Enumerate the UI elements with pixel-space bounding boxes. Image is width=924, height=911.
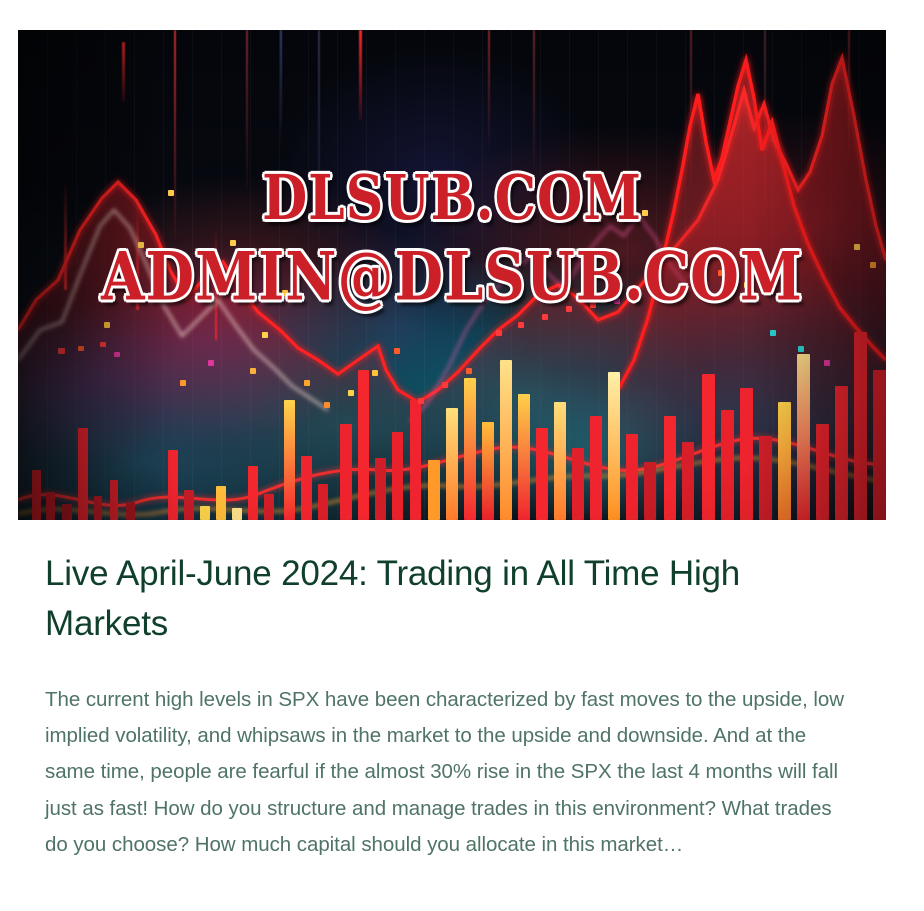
chart-bar bbox=[721, 410, 734, 520]
scatter-dot bbox=[138, 242, 144, 248]
scatter-dot bbox=[496, 330, 502, 336]
scatter-dot bbox=[372, 370, 378, 376]
scatter-dot bbox=[854, 244, 860, 250]
scatter-dot bbox=[870, 262, 876, 268]
chart-bar bbox=[854, 332, 867, 520]
scatter-dot bbox=[466, 368, 472, 374]
chart-bar bbox=[797, 354, 810, 520]
chart-bar bbox=[428, 460, 440, 520]
chart-bar bbox=[759, 436, 772, 520]
chart-bar bbox=[682, 442, 694, 520]
scatter-dot bbox=[180, 380, 186, 386]
scatter-dot bbox=[394, 348, 400, 354]
post-excerpt: The current high levels in SPX have been… bbox=[45, 682, 845, 863]
chart-bar bbox=[392, 432, 403, 520]
page-root: DLSUB.COM ADMIN@DLSUB.COM Live April-Jun… bbox=[0, 0, 924, 911]
scatter-dot bbox=[542, 314, 548, 320]
scatter-dot bbox=[744, 282, 750, 288]
scatter-dot bbox=[168, 190, 174, 196]
chart-bar bbox=[200, 506, 210, 520]
chart-bar bbox=[536, 428, 548, 520]
chart-bar bbox=[46, 492, 55, 520]
chart-bar bbox=[518, 394, 530, 520]
scatter-dot bbox=[114, 352, 120, 357]
chart-bar bbox=[590, 416, 602, 520]
chart-bar bbox=[554, 402, 566, 520]
post-title[interactable]: Live April-June 2024: Trading in All Tim… bbox=[45, 549, 863, 649]
scatter-dot bbox=[208, 360, 214, 366]
chart-bar bbox=[318, 484, 328, 520]
chart-bar bbox=[500, 360, 512, 520]
scatter-dot bbox=[58, 348, 65, 354]
scatter-dot bbox=[614, 298, 620, 304]
scatter-dot bbox=[104, 322, 110, 328]
chart-bar bbox=[232, 508, 242, 520]
chart-bar bbox=[110, 480, 118, 520]
scatter-dot bbox=[250, 368, 256, 374]
chart-bar bbox=[216, 486, 226, 520]
scatter-dot bbox=[518, 322, 524, 328]
bar-chart-overlay bbox=[18, 260, 886, 520]
scatter-dot bbox=[442, 382, 448, 388]
chart-bar bbox=[168, 450, 178, 520]
chart-bar bbox=[301, 456, 312, 520]
chart-bar bbox=[94, 496, 102, 520]
scatter-dot bbox=[230, 240, 236, 246]
scatter-dot bbox=[78, 346, 84, 351]
scatter-dot bbox=[282, 290, 288, 296]
scatter-dot bbox=[100, 342, 106, 347]
scatter-dot bbox=[262, 332, 268, 338]
scatter-dot bbox=[642, 210, 648, 216]
scatter-dot bbox=[324, 402, 330, 408]
chart-bar bbox=[264, 494, 274, 520]
scatter-dot bbox=[418, 398, 424, 404]
chart-bar bbox=[608, 372, 620, 520]
chart-bar bbox=[340, 424, 352, 520]
featured-image[interactable]: DLSUB.COM ADMIN@DLSUB.COM bbox=[18, 30, 886, 520]
scatter-dot bbox=[566, 306, 572, 312]
chart-bar bbox=[464, 378, 476, 520]
chart-bar bbox=[410, 400, 421, 520]
chart-bar bbox=[702, 374, 715, 520]
scatter-dot bbox=[718, 270, 724, 276]
chart-bar bbox=[375, 458, 386, 520]
chart-bar bbox=[626, 434, 638, 520]
chart-bar bbox=[32, 470, 41, 520]
chart-bar bbox=[284, 400, 295, 520]
chart-bar bbox=[184, 490, 194, 520]
chart-bar bbox=[62, 504, 72, 520]
chart-bar bbox=[358, 370, 369, 520]
scatter-dot bbox=[304, 380, 310, 386]
scatter-dot bbox=[770, 330, 776, 336]
chart-bar bbox=[248, 466, 258, 520]
chart-bar bbox=[873, 370, 886, 520]
scatter-dot bbox=[798, 346, 804, 352]
chart-bar bbox=[482, 422, 494, 520]
chart-bar bbox=[778, 402, 791, 520]
chart-bar bbox=[740, 388, 753, 520]
chart-bar bbox=[446, 408, 458, 520]
scatter-dot bbox=[118, 282, 124, 288]
chart-bar bbox=[126, 502, 135, 520]
chart-bar bbox=[572, 448, 584, 520]
chart-bar bbox=[664, 416, 676, 520]
chart-bar bbox=[835, 386, 848, 520]
featured-image-artwork bbox=[18, 30, 886, 520]
chart-bar bbox=[78, 428, 88, 520]
chart-bar bbox=[816, 424, 829, 520]
scatter-dot bbox=[824, 360, 830, 366]
scatter-dot bbox=[590, 302, 596, 308]
chart-bar bbox=[644, 462, 656, 520]
scatter-dot bbox=[348, 390, 354, 396]
